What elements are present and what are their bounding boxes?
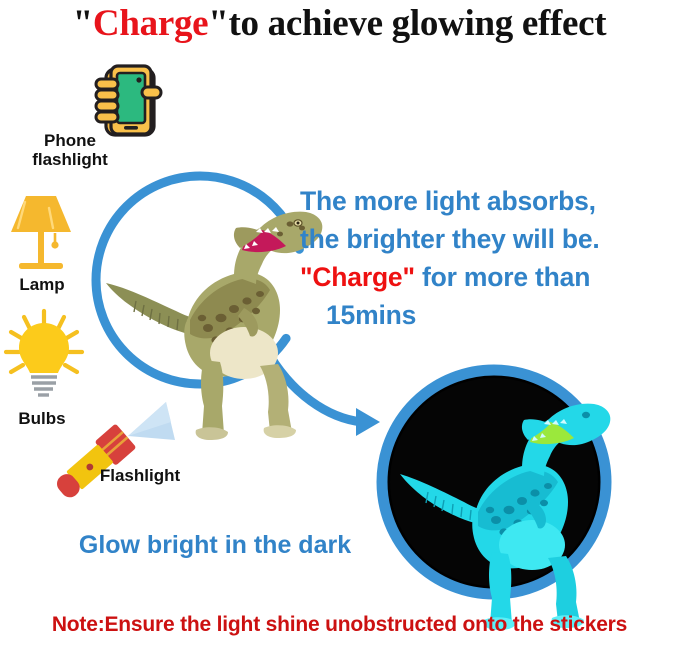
promo-line-3: "Charge" for more than	[300, 258, 679, 296]
promo-line-2: the brighter they will be.	[300, 220, 679, 258]
flashlight-label: Flashlight	[85, 466, 195, 485]
glow-caption: Glow bright in the dark	[50, 531, 380, 560]
table-lamp-icon	[5, 192, 77, 274]
headline-rest: to achieve glowing effect	[229, 3, 607, 44]
light-bulb-icon	[2, 305, 86, 403]
headline-quote-close: "	[208, 3, 228, 44]
bottom-note: Note:Ensure the light shine unobstructed…	[0, 613, 679, 637]
phone-in-hand-icon	[92, 63, 162, 141]
page-title: "Charge"to achieve glowing effect	[0, 2, 679, 46]
phone-flashlight-label-line1: Phone	[44, 131, 96, 150]
promo-line-1: The more light absorbs,	[300, 182, 679, 220]
lamp-label: Lamp	[0, 275, 84, 294]
promo-line-4: 15mins	[300, 296, 679, 334]
phone-flashlight-label: Phone flashlight	[20, 131, 120, 169]
promo-charge-word: "Charge"	[300, 262, 415, 292]
glow-dinosaur-circle	[374, 362, 614, 602]
headline-quote-open: "	[73, 3, 93, 44]
promo-text: The more light absorbs, the brighter the…	[300, 182, 679, 334]
promo-line-3-rest: for more than	[415, 262, 590, 292]
flashlight-label-text: Flashlight	[100, 466, 180, 485]
headline-charge-word: Charge	[93, 3, 208, 44]
lamp-label-text: Lamp	[19, 275, 64, 294]
phone-flashlight-label-line2: flashlight	[32, 150, 108, 169]
